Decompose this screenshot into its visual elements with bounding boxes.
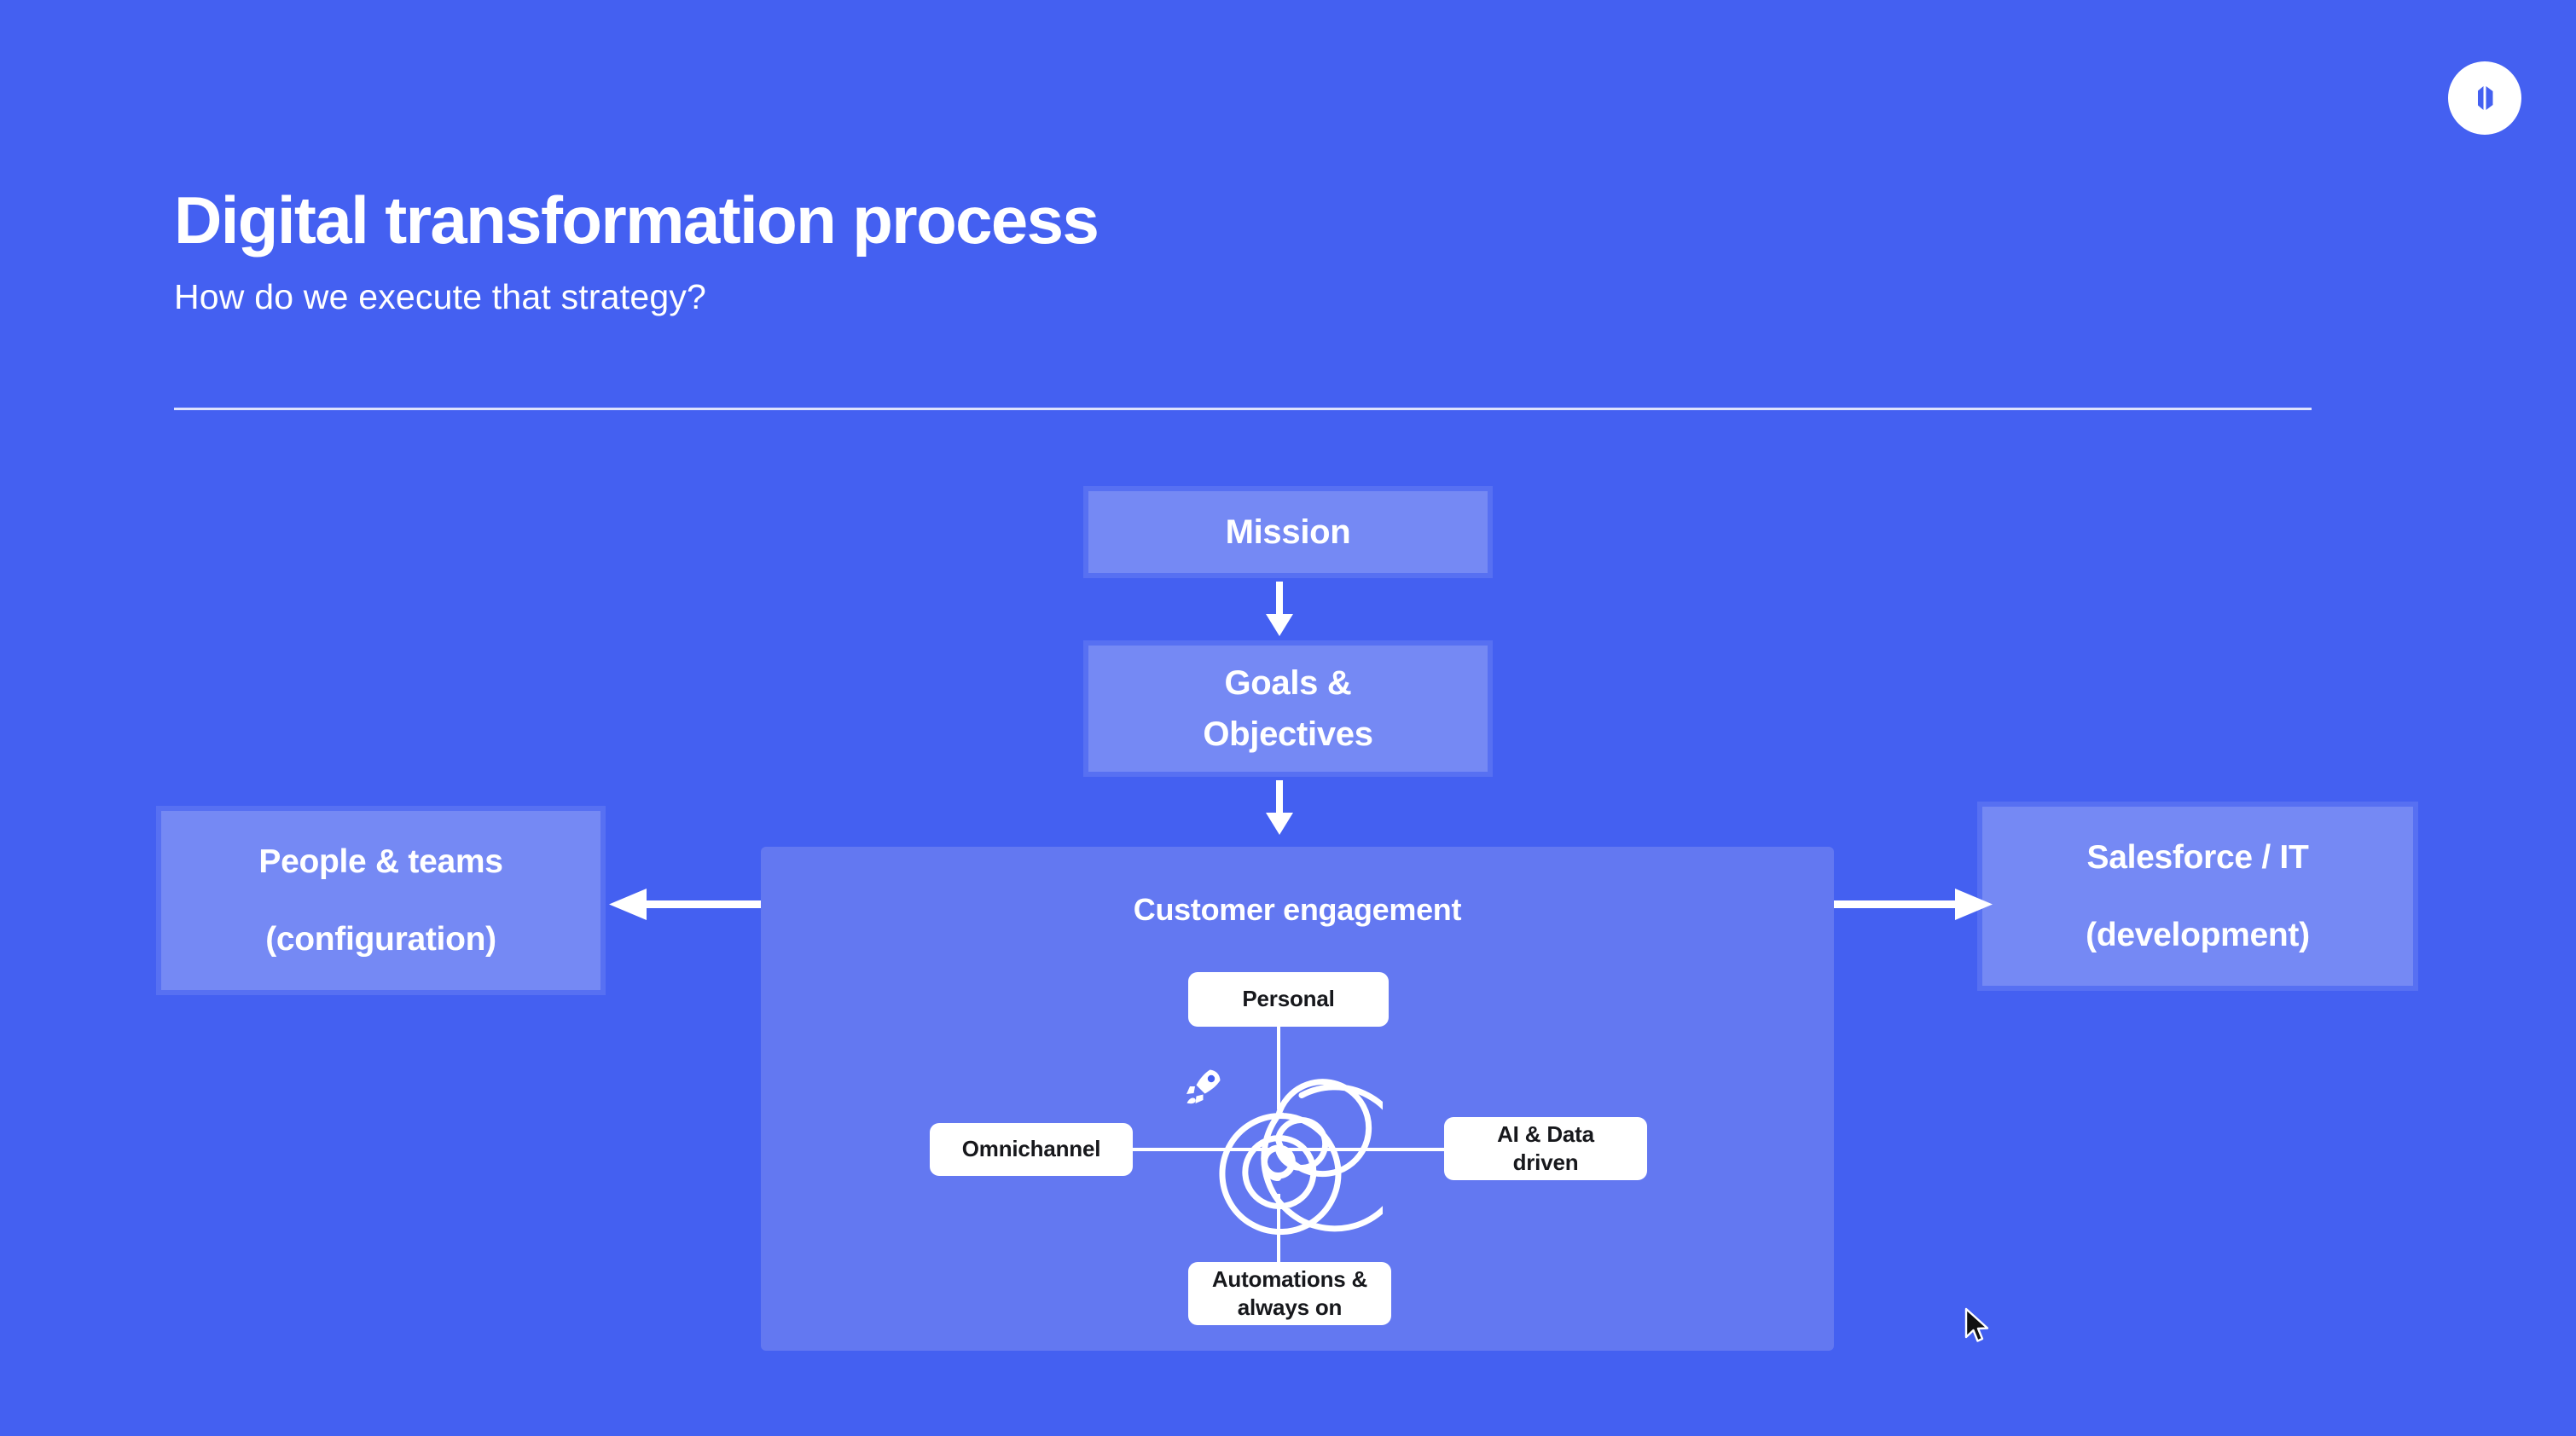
goals-inner: Goals & Objectives [1088,646,1488,772]
diagram-node-mission[interactable]: Mission [1083,486,1493,578]
slide-canvas: Digital transformation process How do we… [0,0,2576,1436]
people-label-line2: (configuration) [265,923,496,956]
chip-automations-always-on[interactable]: Automations & always on [1188,1262,1391,1325]
goals-label-line1: Goals & [1224,657,1351,709]
salesforce-label-line2: (development) [2086,918,2310,952]
chip-automations-line1: Automations & [1212,1266,1367,1292]
mission-inner: Mission [1088,491,1488,573]
engagement-title: Customer engagement [761,892,1834,928]
salesforce-label-line1: Salesforce / IT [2087,841,2309,874]
chip-ai-data-driven-label: AI & Data driven [1497,1120,1594,1178]
chip-automations-line2: always on [1238,1294,1342,1320]
people-label-line1: People & teams [258,845,502,878]
process-diagram: Mission Goals & Objectives People & team… [0,0,2576,1436]
chip-ai-line1: AI & Data [1497,1121,1594,1147]
arrow-right-icon-engagement-to-salesforce [1830,878,1994,929]
chip-omnichannel[interactable]: Omnichannel [930,1123,1133,1176]
arrow-down-icon-mission-to-goals [1261,582,1298,638]
spiral-target-icon [1174,1057,1383,1266]
diagram-node-goals-objectives[interactable]: Goals & Objectives [1083,640,1493,777]
arrow-left-icon-engagement-to-people [607,878,771,929]
chip-ai-line2: driven [1513,1149,1579,1175]
chip-ai-data-driven[interactable]: AI & Data driven [1444,1117,1647,1180]
goals-label-line2: Objectives [1203,709,1372,760]
chip-personal[interactable]: Personal [1188,972,1389,1027]
chip-automations-label: Automations & always on [1212,1265,1367,1323]
chip-personal-label: Personal [1242,985,1334,1013]
arrow-down-icon-goals-to-engagement [1261,780,1298,837]
chip-omnichannel-label: Omnichannel [962,1135,1101,1163]
salesforce-inner: Salesforce / IT (development) [1982,807,2413,986]
mission-label: Mission [1226,512,1351,552]
diagram-node-salesforce-it[interactable]: Salesforce / IT (development) [1977,802,2418,991]
rocket-icon [1186,1070,1221,1104]
diagram-node-people-teams[interactable]: People & teams (configuration) [156,806,606,995]
people-inner: People & teams (configuration) [161,811,600,990]
